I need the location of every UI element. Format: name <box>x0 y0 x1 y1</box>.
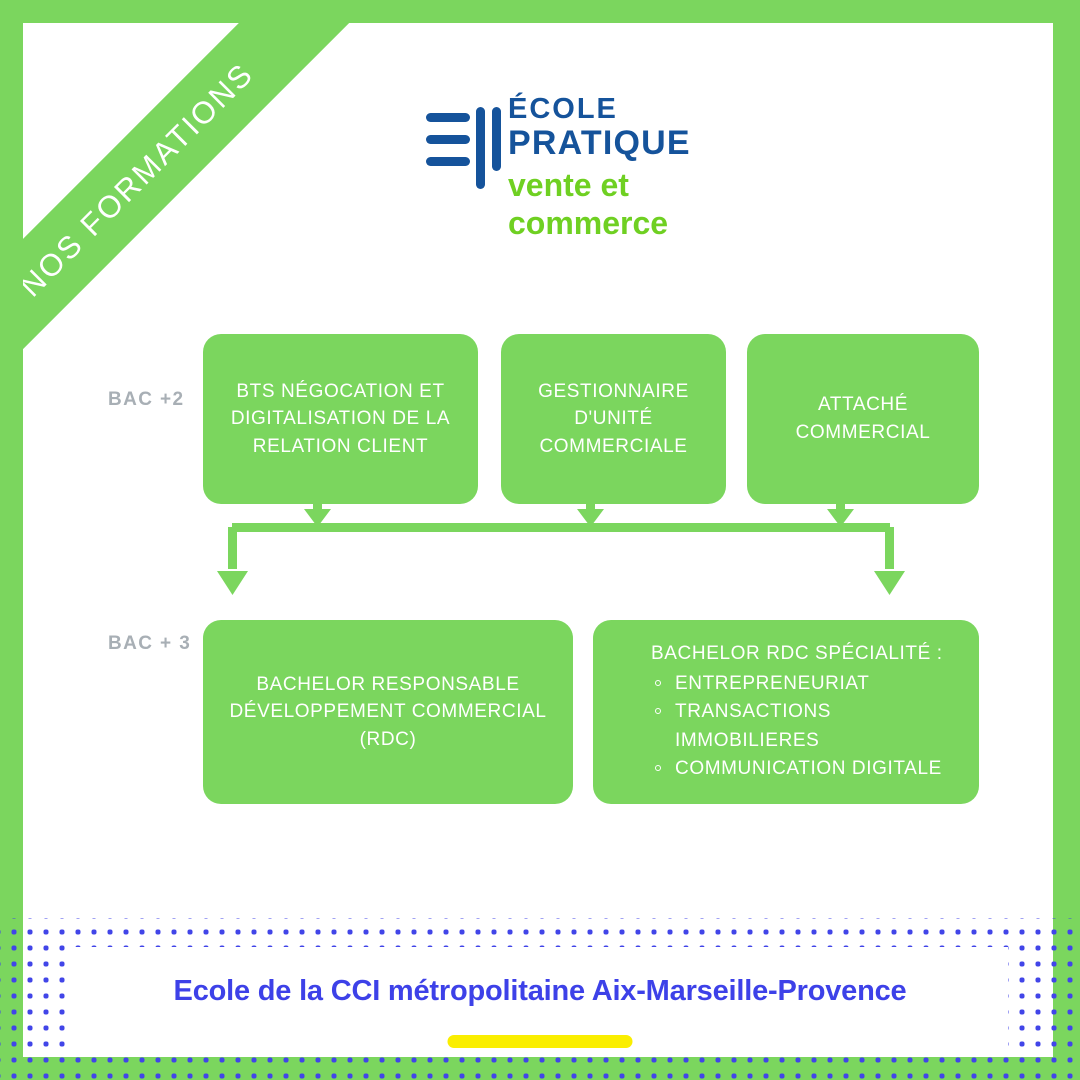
specialite-item: ENTREPRENEURIAT <box>653 670 963 699</box>
program-card-brdc-label: BACHELOR RESPONSABLE DÉVELOPPEMENT COMME… <box>219 671 557 754</box>
logo-line-ecole: ÉCOLE <box>508 95 691 124</box>
level-label-bac2: BAC +2 <box>108 389 185 411</box>
mark-bar-bottom <box>426 157 470 166</box>
footer-title: Ecole de la CCI métropolitaine Aix-Marse… <box>72 975 1008 1008</box>
program-card-bachelor-rdc-specialites[interactable]: BACHELOR RDC SPÉCIALITÉ : ENTREPRENEURIA… <box>593 620 979 804</box>
footer-accent-bar <box>448 1035 633 1048</box>
mark-vertical-tall <box>476 107 485 189</box>
mark-bar-top <box>426 113 470 122</box>
poster-inner-page: NOS FORMATIONS ÉCOLE PRATIQUE vente et c… <box>23 23 1053 1057</box>
specialite-item: COMMUNICATION DIGITALE <box>653 755 963 784</box>
program-card-bts-label: BTS NÉGOCATION ET DIGITALISATION DE LA R… <box>219 378 462 461</box>
logo-line-vente: vente et <box>508 167 691 205</box>
footer-card: Ecole de la CCI métropolitaine Aix-Marse… <box>72 947 1008 1052</box>
program-card-attache-commercial[interactable]: ATTACHÉ COMMERCIAL <box>747 334 979 504</box>
specialite-item: TRANSACTIONS IMMOBILIERES <box>653 698 963 755</box>
logo-line-commerce: commerce <box>508 205 691 243</box>
logo-line-pratique: PRATIQUE <box>508 124 691 163</box>
program-card-ac-label: ATTACHÉ COMMERCIAL <box>763 391 963 446</box>
program-card-bts[interactable]: BTS NÉGOCATION ET DIGITALISATION DE LA R… <box>203 334 478 504</box>
brand-logo: ÉCOLE PRATIQUE vente et commerce <box>426 95 706 235</box>
mark-vertical-short <box>492 107 501 171</box>
program-card-guc-label: GESTIONNAIRE D'UNITÉ COMMERCIALE <box>517 378 710 461</box>
specialites-title: BACHELOR RDC SPÉCIALITÉ : <box>651 640 963 669</box>
logo-wordmark: ÉCOLE PRATIQUE vente et commerce <box>508 95 691 243</box>
specialites-block: BACHELOR RDC SPÉCIALITÉ : ENTREPRENEURIA… <box>633 640 963 784</box>
poster-canvas: NOS FORMATIONS ÉCOLE PRATIQUE vente et c… <box>0 0 1080 1080</box>
corner-ribbon-label: NOS FORMATIONS <box>23 56 261 304</box>
program-card-gestionnaire-unite-commerciale[interactable]: GESTIONNAIRE D'UNITÉ COMMERCIALE <box>501 334 726 504</box>
program-card-bachelor-rdc[interactable]: BACHELOR RESPONSABLE DÉVELOPPEMENT COMME… <box>203 620 573 804</box>
footer: Ecole de la CCI métropolitaine Aix-Marse… <box>0 918 1080 1080</box>
ecole-pratique-e-mark-icon <box>426 103 496 191</box>
level-label-bac3: BAC + 3 <box>108 633 191 655</box>
mark-bar-middle <box>426 135 470 144</box>
specialites-list: ENTREPRENEURIAT TRANSACTIONS IMMOBILIERE… <box>633 670 963 784</box>
